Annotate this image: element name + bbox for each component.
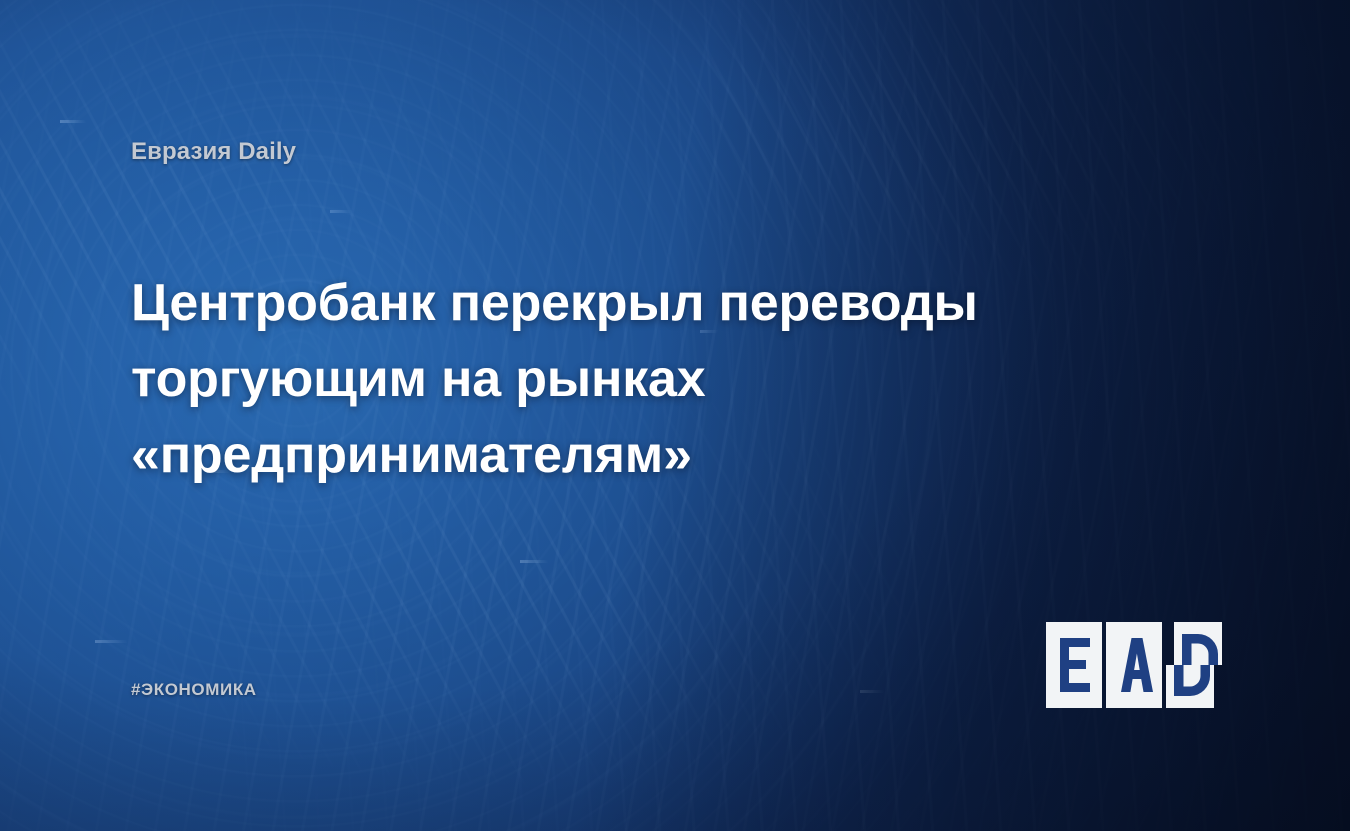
page-title: Центробанк перекрыл переводы торгующим н…	[131, 265, 1061, 493]
logo-tile-a	[1106, 622, 1162, 708]
logo-tile-d	[1166, 622, 1222, 708]
logo-tile-e	[1046, 622, 1102, 708]
news-card: Евразия Daily Центробанк перекрыл перево…	[0, 0, 1350, 831]
category-tag: #ЭКОНОМИКА	[131, 680, 257, 700]
brand-name: Евразия Daily	[131, 138, 296, 166]
eadaily-logo	[1046, 622, 1222, 708]
